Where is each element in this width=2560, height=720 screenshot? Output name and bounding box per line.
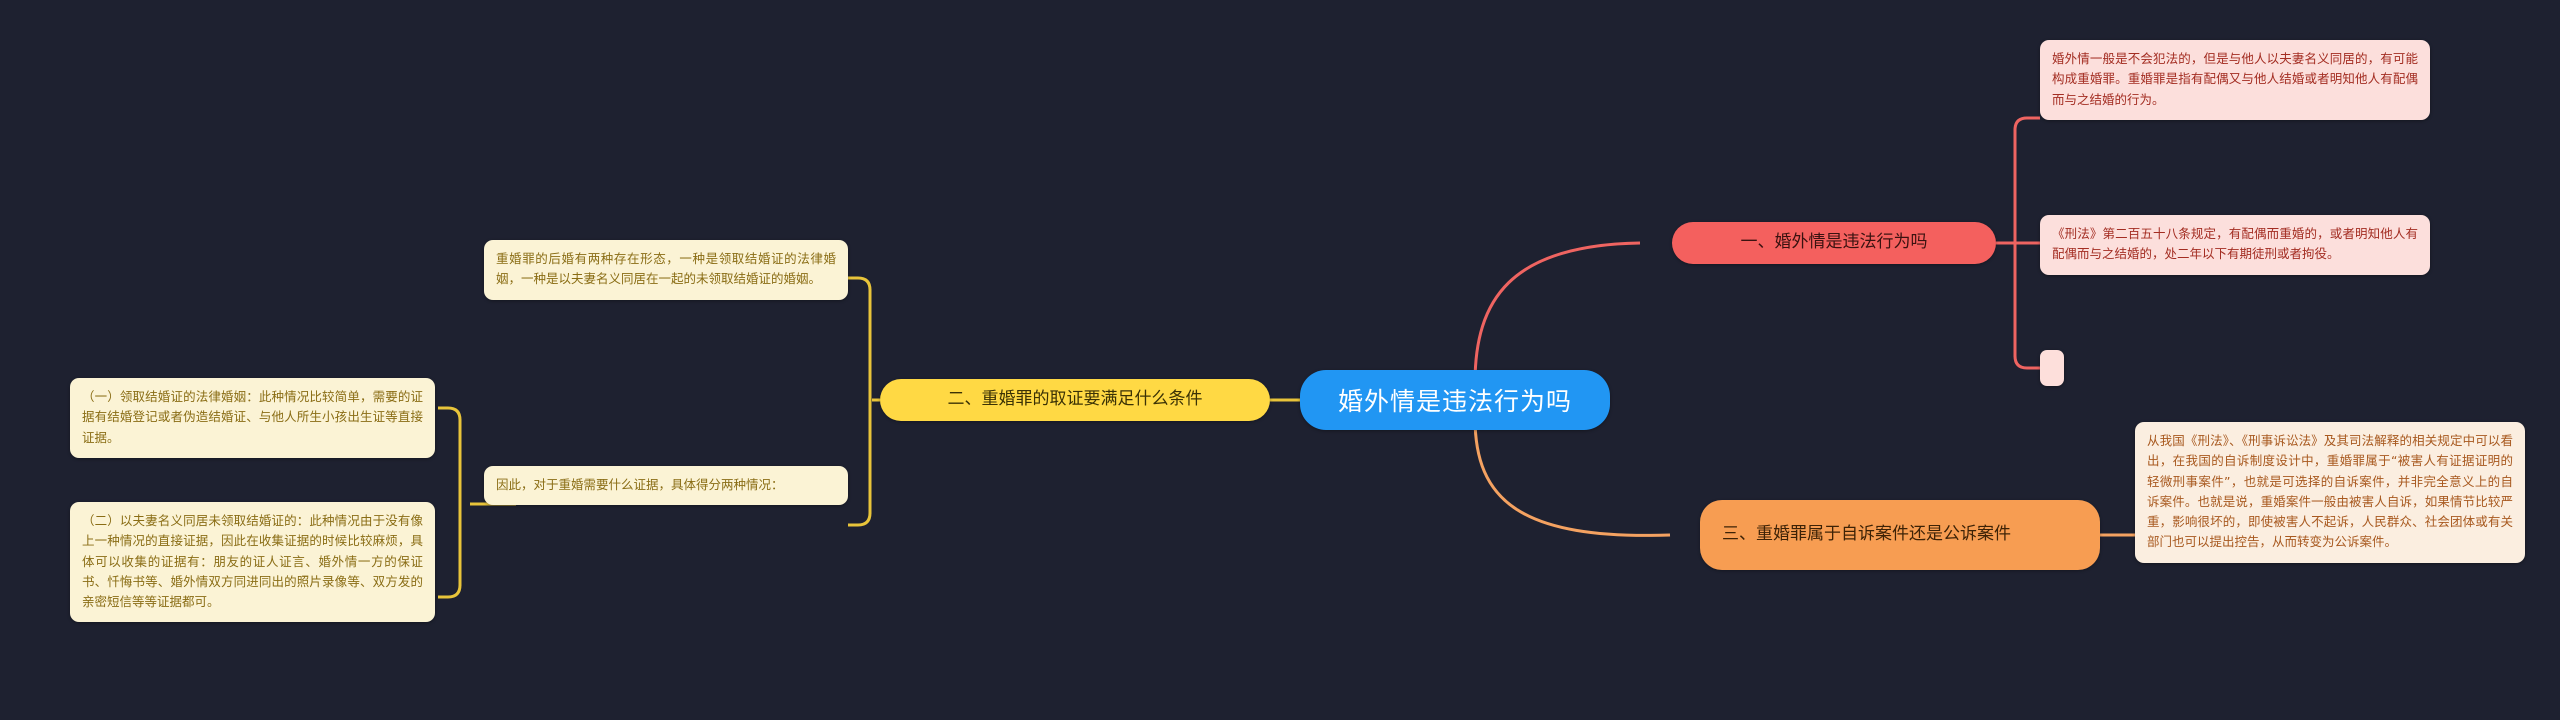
leaf-card-1-3[interactable]: [2040, 350, 2064, 386]
leaf-card-1-1[interactable]: 婚外情一般是不会犯法的，但是与他人以夫妻名义同居的，有可能构成重婚罪。重婚罪是指…: [2040, 40, 2430, 120]
subleaf-card-2[interactable]: （二）以夫妻名义同居未领取结婚证的：此种情况由于没有像上一种情况的直接证据，因此…: [70, 502, 435, 622]
subleaf-card-1[interactable]: （一）领取结婚证的法律婚姻：此种情况比较简单，需要的证据有结婚登记或者伪造结婚证…: [70, 378, 435, 458]
leaf-card-2-1-text: 重婚罪的后婚有两种存在形态，一种是领取结婚证的法律婚姻，一种是以夫妻名义同居在一…: [496, 249, 836, 290]
root-node-label: 婚外情是违法行为吗: [1338, 382, 1572, 418]
leaf-card-2-2-text: 因此，对于重婚需要什么证据，具体得分两种情况：: [496, 475, 836, 495]
root-node[interactable]: 婚外情是违法行为吗: [1300, 370, 1610, 430]
leaf-card-2-1[interactable]: 重婚罪的后婚有两种存在形态，一种是领取结婚证的法律婚姻，一种是以夫妻名义同居在一…: [484, 240, 848, 300]
branch-node-3[interactable]: 三、重婚罪属于自诉案件还是公诉案件: [1700, 500, 2100, 570]
subleaf-card-1-text: （一）领取结婚证的法律婚姻：此种情况比较简单，需要的证据有结婚登记或者伪造结婚证…: [82, 387, 423, 448]
leaf-card-2-2[interactable]: 因此，对于重婚需要什么证据，具体得分两种情况：: [484, 466, 848, 505]
mindmap-canvas: 婚外情是违法行为吗 一、婚外情是违法行为吗 婚外情一般是不会犯法的，但是与他人以…: [0, 0, 2560, 720]
leaf-card-1-2-text: 《刑法》第二百五十八条规定，有配偶而重婚的，或者明知他人有配偶而与之结婚的，处二…: [2052, 224, 2418, 265]
leaf-card-1-2[interactable]: 《刑法》第二百五十八条规定，有配偶而重婚的，或者明知他人有配偶而与之结婚的，处二…: [2040, 215, 2430, 275]
branch-node-1-label: 一、婚外情是违法行为吗: [1741, 231, 1928, 255]
branch-node-2[interactable]: 二、重婚罪的取证要满足什么条件: [880, 379, 1270, 421]
subleaf-card-2-text: （二）以夫妻名义同居未领取结婚证的：此种情况由于没有像上一种情况的直接证据，因此…: [82, 511, 423, 612]
branch-node-3-label: 三、重婚罪属于自诉案件还是公诉案件: [1722, 523, 2011, 547]
leaf-card-3-1-text: 从我国《刑法》、《刑事诉讼法》及其司法解释的相关规定中可以看出，在我国的自诉制度…: [2147, 431, 2513, 553]
leaf-card-3-1[interactable]: 从我国《刑法》、《刑事诉讼法》及其司法解释的相关规定中可以看出，在我国的自诉制度…: [2135, 422, 2525, 563]
branch-node-2-label: 二、重婚罪的取证要满足什么条件: [948, 388, 1203, 412]
branch-node-1[interactable]: 一、婚外情是违法行为吗: [1672, 222, 1996, 264]
leaf-card-1-1-text: 婚外情一般是不会犯法的，但是与他人以夫妻名义同居的，有可能构成重婚罪。重婚罪是指…: [2052, 49, 2418, 110]
